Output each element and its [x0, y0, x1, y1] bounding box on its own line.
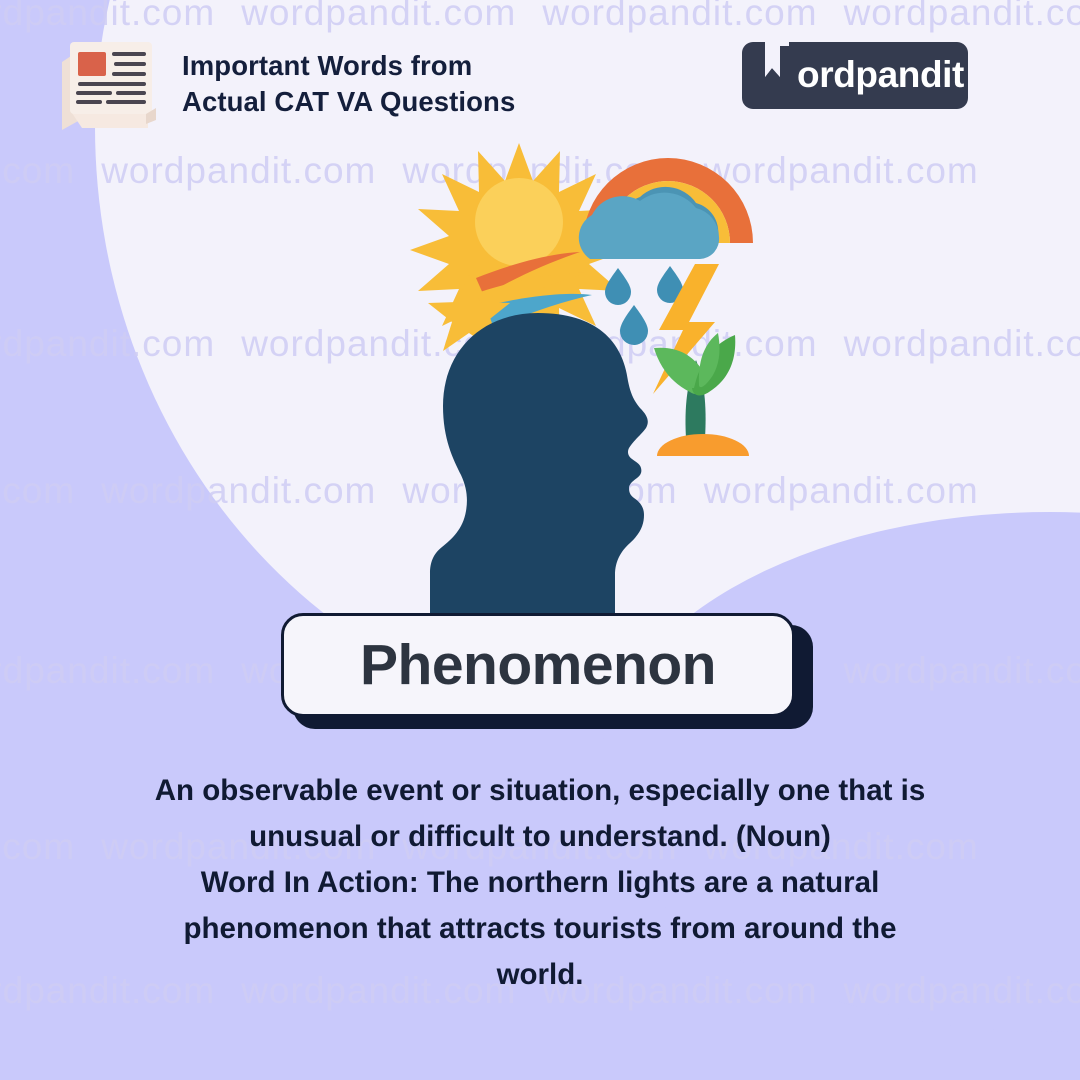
wordpandit-logo[interactable]: ordpandit: [742, 42, 968, 109]
word-banner: Phenomenon: [281, 613, 803, 721]
header-title: Important Words from Actual CAT VA Quest…: [182, 48, 515, 120]
word-term: Phenomenon: [360, 632, 716, 698]
newspaper-icon: [52, 32, 164, 130]
plant-sprout-icon: [654, 333, 749, 456]
definition-line-2: unusual or difficult to understand. (Nou…: [48, 814, 1032, 860]
header-title-line2: Actual CAT VA Questions: [182, 84, 515, 120]
word-in-action-line-2: phenomenon that attracts tourists from a…: [48, 906, 1032, 952]
header: Important Words from Actual CAT VA Quest…: [0, 0, 1080, 140]
bookmark-w-icon: [756, 37, 789, 93]
word-banner-box: Phenomenon: [281, 613, 795, 717]
raindrop-icon: [605, 266, 683, 345]
definition-line-1: An observable event or situation, especi…: [48, 768, 1032, 814]
word-card: wordpandit.comwordpandit.comwordpandit.c…: [0, 0, 1080, 1080]
word-in-action-line-3: world.: [48, 952, 1032, 998]
head-silhouette: [430, 313, 648, 630]
definition-block: An observable event or situation, especi…: [48, 768, 1032, 998]
header-title-line1: Important Words from: [182, 50, 472, 81]
word-in-action-line-1: Word In Action: The northern lights are …: [48, 860, 1032, 906]
logo-text: ordpandit: [797, 54, 964, 96]
